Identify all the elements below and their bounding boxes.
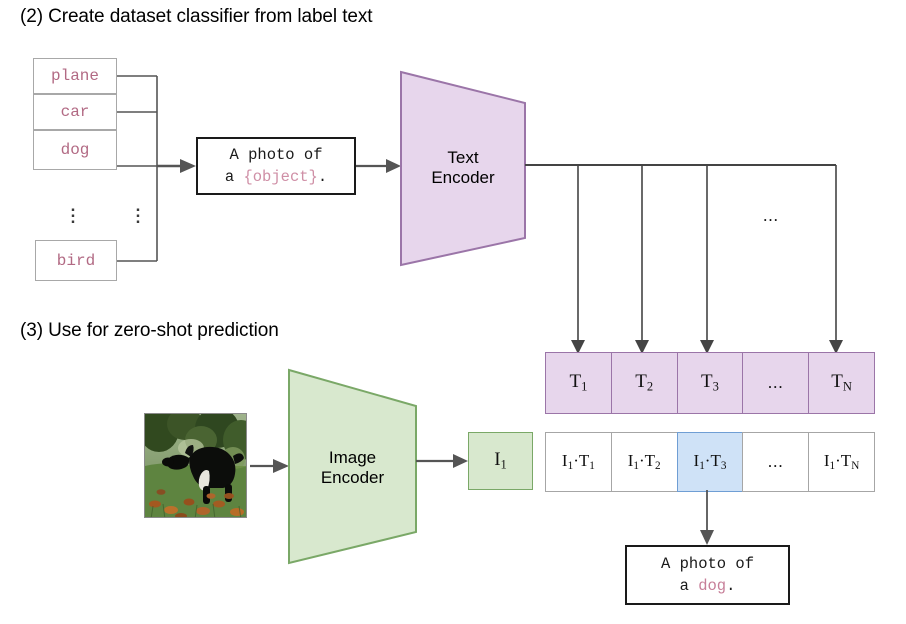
clip-zero-shot-diagram: (2) Create dataset classifier from label…: [0, 0, 906, 624]
prediction-line-1: A photo of: [661, 553, 754, 575]
prediction-output-box[interactable]: A photo of a dog.: [625, 545, 790, 605]
prediction-line2-prefix: a: [680, 577, 699, 595]
prediction-line-2: a dog.: [680, 575, 736, 597]
prediction-class-word: dog: [698, 577, 726, 595]
arrow-selected-to-prediction: [0, 0, 906, 624]
prediction-line2-suffix: .: [726, 577, 735, 595]
